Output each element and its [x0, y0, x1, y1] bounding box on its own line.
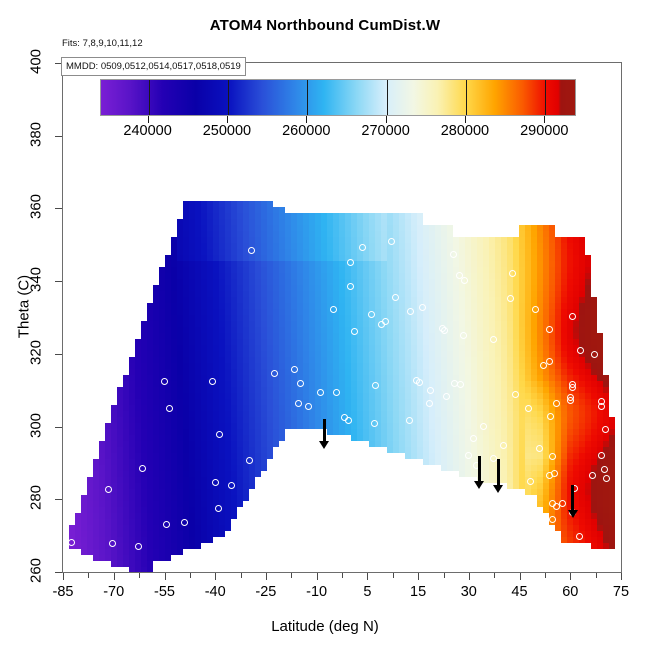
x-axis-tick: [520, 573, 521, 580]
x-axis-tick: [165, 573, 166, 580]
x-axis-tick: [367, 573, 368, 580]
colorbar: 240000250000260000270000280000290000: [100, 79, 576, 116]
y-axis-tick-label: 400: [28, 45, 45, 79]
x-axis-tick-label: 30: [461, 584, 477, 600]
y-axis-tick-label: 280: [28, 481, 45, 515]
x-axis-tick: [494, 573, 495, 578]
colorbar-tick-label: 280000: [441, 123, 489, 139]
y-axis-tick: [55, 499, 62, 500]
x-axis-tick: [418, 573, 419, 580]
y-axis-title: Theta (C): [16, 237, 33, 377]
y-axis-tick: [55, 136, 62, 137]
colorbar-tick: [386, 116, 387, 123]
x-axis-tick-label: 60: [562, 584, 578, 600]
x-axis-tick: [444, 573, 445, 578]
figure-canvas: ATOM4 Northbound CumDist.W Fits: 7,8,9,1…: [0, 0, 650, 650]
colorbar-divider: [149, 80, 150, 115]
y-axis-tick: [55, 208, 62, 209]
colorbar-divider: [307, 80, 308, 115]
colorbar-tick-label: 240000: [123, 123, 171, 139]
colorbar-divider: [387, 80, 388, 115]
x-axis-tick-label: -70: [103, 584, 124, 600]
x-axis-tick: [241, 573, 242, 578]
x-axis-tick: [342, 573, 343, 578]
x-axis-tick: [291, 573, 292, 578]
colorbar-gradient: [100, 79, 576, 116]
x-axis-title: Latitude (deg N): [0, 618, 650, 635]
x-axis-tick-label: -10: [306, 584, 327, 600]
x-axis-tick: [266, 573, 267, 580]
x-axis-tick: [215, 573, 216, 580]
x-axis-tick: [469, 573, 470, 580]
fits-annotation: Fits: 7,8,9,10,11,12: [62, 38, 143, 49]
x-axis-tick: [88, 573, 89, 578]
chart-title: ATOM4 Northbound CumDist.W: [0, 17, 650, 34]
x-axis-tick: [114, 573, 115, 580]
y-axis-tick-label: 300: [28, 408, 45, 442]
colorbar-tick: [148, 116, 149, 123]
x-axis-tick-label: -55: [154, 584, 175, 600]
colorbar-tick-label: 270000: [361, 123, 409, 139]
mmdd-annotation-box: MMDD: 0509,0512,0514,0517,0518,0519: [61, 57, 246, 76]
colorbar-tick: [465, 116, 466, 123]
y-axis-tick: [55, 427, 62, 428]
x-axis-tick: [317, 573, 318, 580]
x-axis-tick: [190, 573, 191, 578]
x-axis-tick: [570, 573, 571, 580]
x-axis-tick: [63, 573, 64, 580]
colorbar-tick: [306, 116, 307, 123]
y-axis-tick-label: 360: [28, 190, 45, 224]
colorbar-divider: [466, 80, 467, 115]
x-axis-tick: [393, 573, 394, 578]
colorbar-ramp: [101, 80, 575, 115]
x-axis-tick-label: -40: [205, 584, 226, 600]
x-axis-tick: [621, 573, 622, 580]
colorbar-tick: [544, 116, 545, 123]
y-axis-tick-label: 380: [28, 117, 45, 151]
y-axis-tick: [55, 354, 62, 355]
x-axis-tick-label: 5: [363, 584, 371, 600]
colorbar-tick-label: 290000: [520, 123, 568, 139]
y-axis-tick: [55, 572, 62, 573]
x-axis-tick-label: -25: [255, 584, 276, 600]
colorbar-tick-label: 260000: [282, 123, 330, 139]
x-axis-tick-label: 45: [511, 584, 527, 600]
colorbar-tick-label: 250000: [203, 123, 251, 139]
x-axis-tick: [545, 573, 546, 578]
colorbar-divider: [545, 80, 546, 115]
x-axis-tick: [139, 573, 140, 578]
x-axis-tick-label: 15: [410, 584, 426, 600]
x-axis-tick-label: 75: [613, 584, 629, 600]
y-axis-tick-label: 260: [28, 554, 45, 588]
colorbar-divider: [228, 80, 229, 115]
colorbar-tick: [227, 116, 228, 123]
x-axis-tick: [596, 573, 597, 578]
y-axis-tick: [55, 281, 62, 282]
x-axis-tick-label: -85: [53, 584, 74, 600]
